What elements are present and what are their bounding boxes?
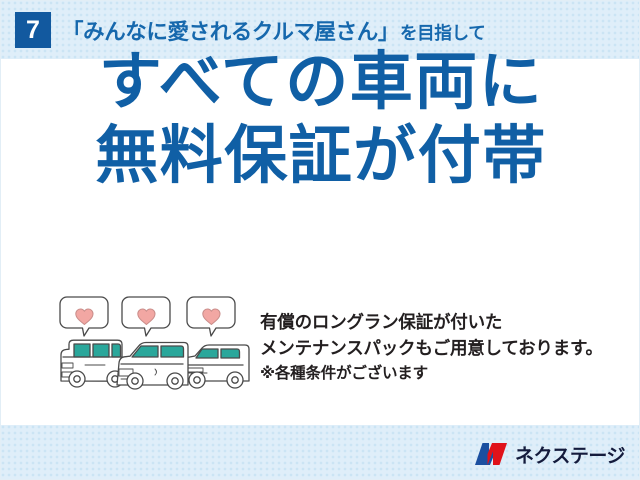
body-copy: 有償のロングラン保証が付いた メンテナンスパックもご用意しております。 ※各種条… <box>260 309 632 386</box>
lower-section: 有償のロングラン保証が付いた メンテナンスパックもご用意しております。 ※各種条… <box>1 237 640 425</box>
header-title-suffix: を目指して <box>400 20 485 45</box>
car-suv <box>181 345 249 388</box>
section-number-badge: 7 <box>15 12 51 48</box>
body-copy-line-2: メンテナンスパックもご用意しております。 <box>260 335 632 361</box>
header: 7 「みんなに愛されるクルマ屋さん」 を目指して <box>1 1 640 59</box>
header-title-quoted: 「みんなに愛されるクルマ屋さん」 <box>62 15 399 46</box>
heart-bubble-3 <box>187 297 235 336</box>
brand-logo-text: ネクステージ <box>515 441 625 468</box>
brand-logo: ネクステージ <box>474 437 625 471</box>
headline: すべての車両に 無料保証が付帯 <box>1 45 640 193</box>
header-title: 「みんなに愛されるクルマ屋さん」 を目指して <box>62 15 485 46</box>
three-cars-with-heart-bubbles-illustration <box>55 293 255 399</box>
car-kei-wagon <box>61 340 123 387</box>
headline-line-2: 無料保証が付帯 <box>1 119 640 193</box>
car-minivan <box>117 343 188 390</box>
cars-illustration-svg <box>55 293 255 399</box>
nextage-n-mark-icon <box>474 442 508 466</box>
heart-bubble-1 <box>60 297 108 336</box>
body-copy-note: ※各種条件がございます <box>260 361 632 386</box>
body-copy-line-1: 有償のロングラン保証が付いた <box>260 309 632 335</box>
promo-banner: 7 「みんなに愛されるクルマ屋さん」 を目指して すべての車両に 無料保証が付帯 <box>0 0 640 480</box>
heart-bubble-2 <box>122 297 170 336</box>
